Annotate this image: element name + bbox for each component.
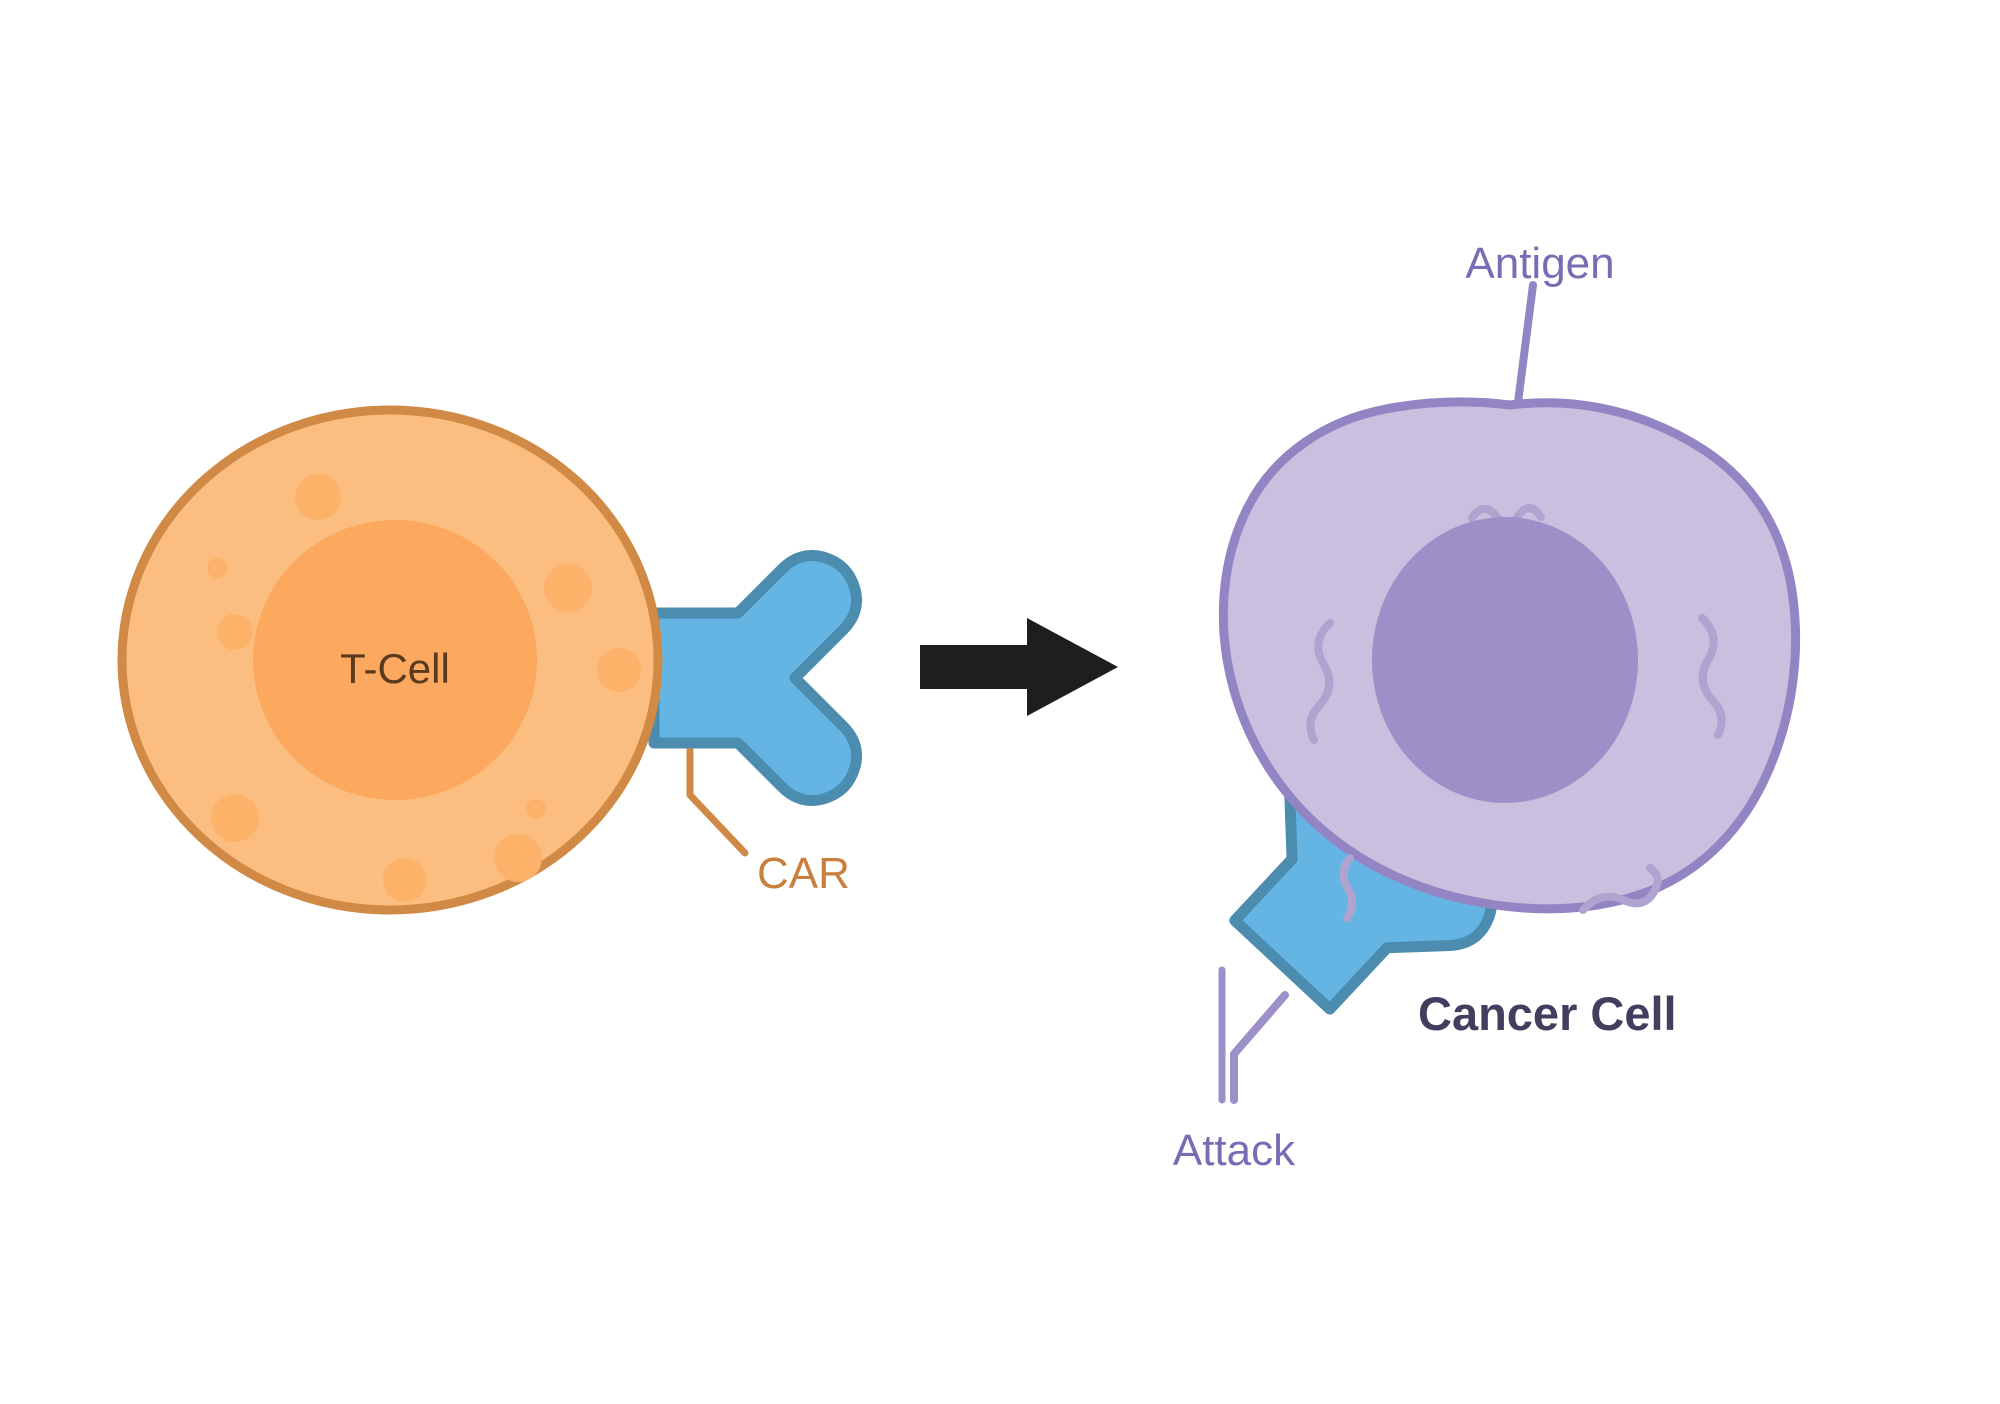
car-t-cell-therapy-diagram: T-Cell CAR <box>0 0 2000 1404</box>
antigen-label: Antigen <box>1465 239 1614 288</box>
tcell-granule <box>207 558 227 578</box>
tcell-granule <box>544 564 592 612</box>
tcell-granule <box>526 799 546 819</box>
tcell-group[interactable]: T-Cell CAR <box>122 410 857 910</box>
process-arrow <box>920 618 1118 716</box>
car-label: CAR <box>757 849 850 898</box>
diagram-canvas: T-Cell CAR <box>0 0 2000 1404</box>
tcell-granule <box>295 474 341 520</box>
tcell-granule <box>597 648 641 692</box>
attack-leader-line-visible <box>1234 995 1285 1100</box>
car-receptor-shape[interactable] <box>654 556 857 801</box>
car-receptor-tcell[interactable] <box>654 556 857 854</box>
cancer-cell-nucleus <box>1372 517 1638 803</box>
arrow-right-icon <box>920 618 1118 716</box>
attack-label: Attack <box>1173 1126 1296 1175</box>
cancer-cell-label: Cancer Cell <box>1418 987 1677 1040</box>
tcell-granule <box>211 794 259 842</box>
tcell-granule <box>217 614 253 650</box>
tcell-granule <box>494 834 542 882</box>
tcell-label: T-Cell <box>340 645 450 692</box>
cancer-cell-group[interactable]: Antigen Cancer Cell Attack <box>1097 239 1795 1175</box>
tcell-granule <box>383 858 427 902</box>
